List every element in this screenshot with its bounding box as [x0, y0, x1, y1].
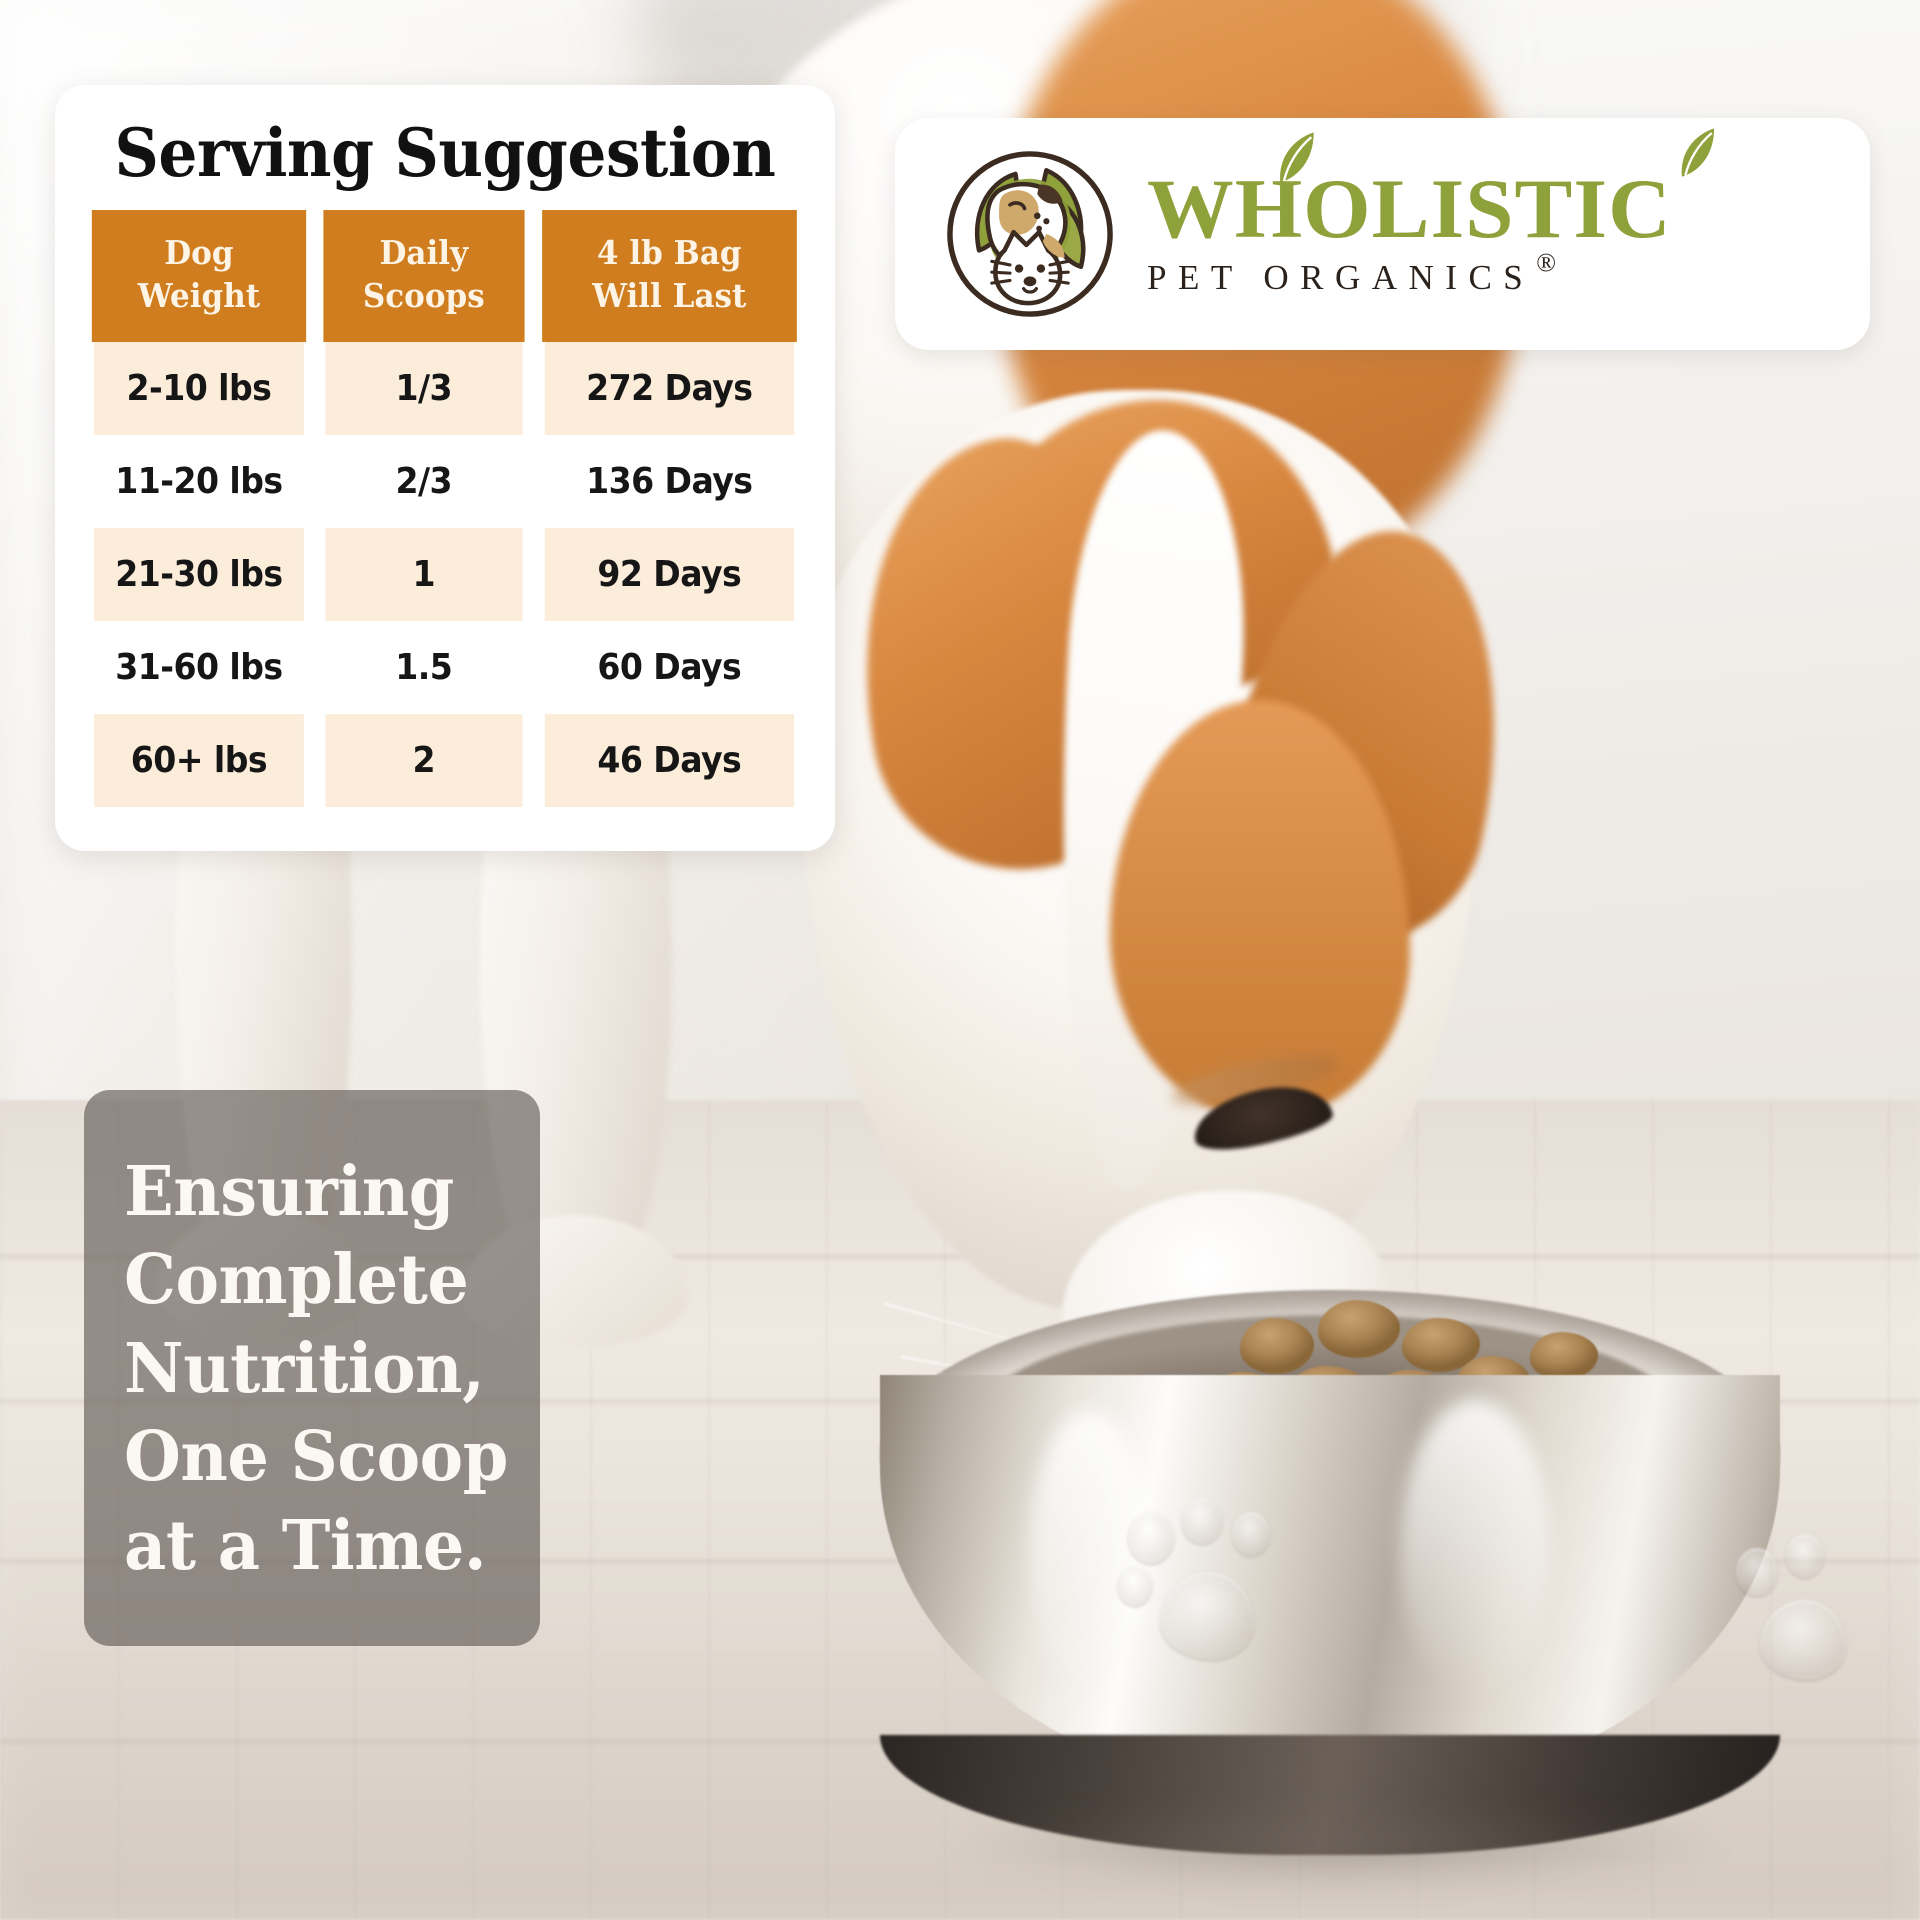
bowl-embossed-paw	[1128, 1512, 1174, 1564]
cell-dog-weight: 2-10 lbs	[94, 342, 304, 435]
table-row: 31-60 lbs 1.5 60 Days	[85, 621, 805, 714]
cell-bag-duration: 46 Days	[545, 714, 794, 807]
tagline-quote-text: Ensuring Complete Nutrition, One Scoop a…	[124, 1148, 485, 1590]
serving-suggestion-title: Serving Suggestion	[106, 115, 783, 210]
header-line-1: Dog	[97, 232, 300, 275]
quote-line: Complete	[124, 1236, 485, 1324]
bowl-embossed-paw	[1786, 1534, 1824, 1578]
header-line-2: Scoops	[329, 275, 518, 318]
column-header-daily-scoops: Daily Scoops	[323, 210, 524, 342]
cell-dog-weight: 60+ lbs	[94, 714, 304, 807]
header-line-1: Daily	[329, 232, 518, 275]
serving-suggestion-card: Serving Suggestion Dog Weight Daily Scoo…	[55, 85, 835, 851]
cell-bag-duration: 60 Days	[545, 621, 794, 714]
brand-tagline: PET ORGANICS	[1147, 248, 1534, 298]
tagline-quote-panel: Ensuring Complete Nutrition, One Scoop a…	[84, 1090, 540, 1646]
quote-line: Nutrition,	[124, 1325, 485, 1413]
brand-wordmark: WHOLISTIC	[1147, 170, 1850, 248]
cell-daily-scoops: 2	[325, 714, 522, 807]
bowl-embossed-paw-pad	[1760, 1600, 1846, 1680]
brand-logo-pill: WHOLISTIC PET ORGANICS ®	[895, 118, 1870, 350]
table-row: 21-30 lbs 1 92 Days	[85, 528, 805, 621]
bowl-highlight	[1030, 1410, 1150, 1700]
table-header-row: Dog Weight Daily Scoops 4 lb Bag Will La…	[85, 210, 805, 342]
cell-daily-scoops: 1.5	[325, 621, 522, 714]
bowl-embossed-paw	[1736, 1548, 1778, 1596]
quote-line: Ensuring	[124, 1148, 485, 1236]
registered-trademark-mark: ®	[1536, 250, 1556, 276]
cell-bag-duration: 136 Days	[545, 435, 794, 528]
column-header-dog-weight: Dog Weight	[92, 210, 306, 342]
column-header-bag-duration: 4 lb Bag Will Last	[543, 210, 797, 342]
header-line-2: Weight	[97, 275, 300, 318]
quote-line: at a Time.	[124, 1502, 485, 1590]
table-row: 60+ lbs 2 46 Days	[85, 714, 805, 807]
cell-bag-duration: 92 Days	[545, 528, 794, 621]
brand-wordmark-wrap: WHOLISTIC	[1147, 170, 1836, 248]
table-row: 2-10 lbs 1/3 272 Days	[85, 342, 805, 435]
bowl-embossed-paw	[1118, 1566, 1152, 1606]
cell-daily-scoops: 1	[325, 528, 522, 621]
header-line-2: Will Last	[548, 275, 791, 318]
brand-logo-text: WHOLISTIC PET ORGANICS ®	[1147, 170, 1836, 298]
serving-suggestion-table: Dog Weight Daily Scoops 4 lb Bag Will La…	[81, 210, 809, 807]
cell-dog-weight: 11-20 lbs	[94, 435, 304, 528]
bowl-embossed-paw	[1232, 1512, 1270, 1556]
cell-bag-duration: 272 Days	[545, 342, 794, 435]
bowl-floor-shadow	[820, 1790, 1860, 1900]
brand-tagline-wrap: PET ORGANICS ®	[1147, 248, 1836, 298]
cell-daily-scoops: 1/3	[325, 342, 522, 435]
header-line-1: 4 lb Bag	[548, 232, 791, 275]
bowl-highlight	[1400, 1400, 1550, 1700]
bowl-embossed-paw	[1182, 1498, 1222, 1544]
table-row: 11-20 lbs 2/3 136 Days	[85, 435, 805, 528]
cell-dog-weight: 21-30 lbs	[94, 528, 304, 621]
cell-dog-weight: 31-60 lbs	[94, 621, 304, 714]
cell-daily-scoops: 2/3	[325, 435, 522, 528]
quote-line: One Scoop	[124, 1413, 485, 1501]
dog-and-cat-leaf-emblem-icon	[939, 143, 1121, 325]
bowl-embossed-paw-pad	[1160, 1572, 1254, 1660]
